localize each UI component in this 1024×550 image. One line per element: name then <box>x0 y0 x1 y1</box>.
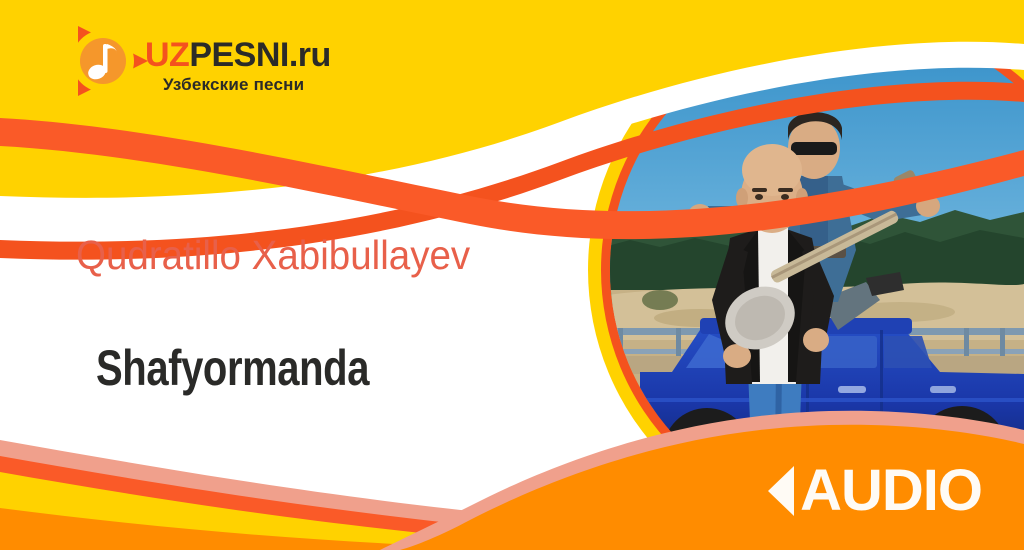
artist-name: Qudratillo Xabibullayev <box>76 232 470 279</box>
logo-wordmark: UZPESNI.ru <box>145 38 375 72</box>
logo-tagline: Узбекские песни <box>163 75 375 95</box>
wordmark-suffix: PESNI.ru <box>189 36 330 74</box>
audio-track-card: UZPESNI.ru Узбекские песни Qudratillo Xa… <box>0 0 1024 550</box>
song-title: Shafyormanda <box>96 339 369 397</box>
play-music-note-icon <box>70 22 154 100</box>
logo-wordmark-block: UZPESNI.ru Узбекские песни <box>145 38 375 95</box>
audio-badge[interactable]: AUDIO <box>768 462 982 520</box>
left-triangle-icon <box>768 466 794 516</box>
audio-badge-label: AUDIO <box>800 462 982 520</box>
site-logo[interactable]: UZPESNI.ru Узбекские песни <box>70 20 370 105</box>
wordmark-prefix: UZ <box>145 36 189 74</box>
